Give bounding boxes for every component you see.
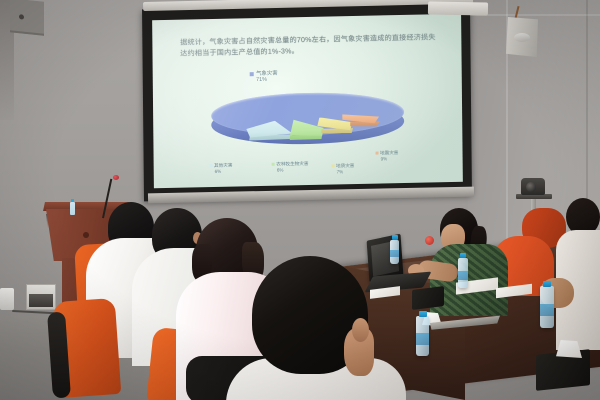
slide-surface: 据统计，气象灾害占自然灾害总量的70%左右，因气象灾害造成的直接经济损失达约相当… <box>152 14 463 188</box>
podium-water-bottle <box>70 202 75 215</box>
bottle-label <box>390 250 399 257</box>
water-bottle <box>458 258 468 288</box>
pie-label-earthquake-text: 地震灾害 <box>380 150 398 155</box>
pie-label-geology-text: 地质灾害 <box>336 163 354 168</box>
screen-roller-bar-right <box>428 1 488 15</box>
legend-swatch-icon <box>250 72 254 76</box>
wall-socket-panel <box>26 284 56 310</box>
bottle-cap <box>419 311 427 317</box>
slide-body-text: 据统计，气象灾害占自然灾害总量的70%左右，因气象灾害造成的直接经济损失达约相当… <box>180 33 440 60</box>
water-bottle <box>540 286 554 328</box>
wall-seam <box>468 14 600 16</box>
wall-speaker-icon <box>506 17 538 57</box>
pie-label-geology: 地质灾害 7% <box>331 163 354 176</box>
bottle-cap <box>392 235 398 240</box>
legend-swatch-icon <box>272 162 275 165</box>
camera-lens-icon <box>526 182 536 192</box>
water-bottle <box>416 316 429 356</box>
pie-label-earthquake: 地震灾害 9% <box>375 150 398 163</box>
bottle-label <box>540 304 554 317</box>
bottle-label <box>458 271 468 280</box>
pie-body <box>211 90 404 158</box>
pie-label-bio-pct: 6% <box>277 167 309 174</box>
tissue-box <box>412 286 444 310</box>
pie-label-bio-text: 农林牧生物灾害 <box>276 160 308 166</box>
projection-screen[interactable]: 据统计，气象灾害占自然灾害总量的70%左右，因气象灾害造成的直接经济损失达约相当… <box>142 3 472 202</box>
bottle-cap <box>460 253 466 258</box>
legend-swatch-icon <box>210 164 213 167</box>
pie-label-other: 其他灾害 6% <box>209 162 232 175</box>
wall-mounted-box-icon <box>10 0 44 36</box>
podium-knob <box>83 232 89 238</box>
pie-main-label: 气象灾害 71% <box>250 69 278 84</box>
pie-main-label-pct: 71% <box>256 77 278 83</box>
microphone-icon <box>113 175 119 180</box>
pie-label-earthquake-pct: 9% <box>381 156 399 163</box>
legend-swatch-icon <box>375 151 378 154</box>
attendee-foreground-ear <box>352 318 369 342</box>
pie-label-bio: 农林牧生物灾害 6% <box>272 160 309 173</box>
pie-label-geology-pct: 7% <box>337 169 355 176</box>
legend-swatch-icon <box>331 165 334 168</box>
floor-equipment-box <box>0 288 14 310</box>
pie-label-other-text: 其他灾害 <box>214 162 232 167</box>
bottle-label <box>416 333 429 345</box>
presenter-badge <box>425 236 434 245</box>
bottle-cap <box>543 281 551 287</box>
water-bottle <box>390 240 399 264</box>
conference-room-photo: 据统计，气象灾害占自然灾害总量的70%左右，因气象灾害造成的直接经济损失达约相当… <box>0 0 600 400</box>
pie-label-other-pct: 6% <box>215 168 233 175</box>
pie-chart: 气象灾害 71% 其他灾害 <box>177 65 438 181</box>
